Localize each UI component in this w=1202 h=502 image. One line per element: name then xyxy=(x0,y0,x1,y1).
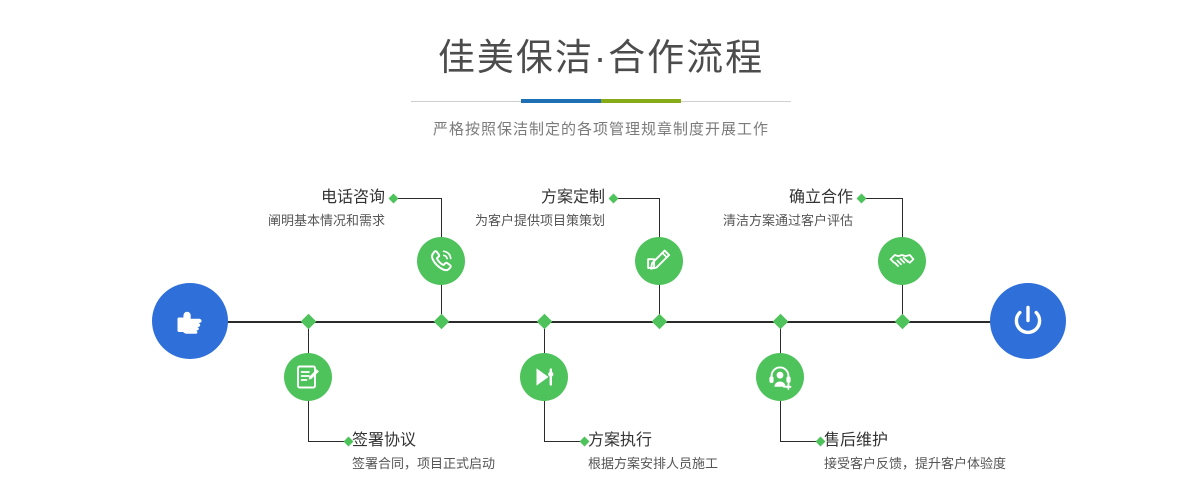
step-label-6: 确立合作 清洁方案通过客户评估 xyxy=(608,188,853,230)
phone-call-icon xyxy=(426,246,456,276)
step-desc-2: 签署合同，项目正式启动 xyxy=(352,455,495,473)
pencil-ruler-icon xyxy=(645,247,673,275)
step-icon-3[interactable] xyxy=(635,237,683,285)
step-title-2: 签署协议 xyxy=(352,431,495,451)
axis-marker-step-4 xyxy=(537,314,553,330)
step-desc-4: 根据方案安排人员施工 xyxy=(588,455,718,473)
step-title-5: 售后维护 xyxy=(824,431,1006,451)
connector-horizontal-step-2 xyxy=(308,441,348,442)
step-title-3: 方案定制 xyxy=(360,188,605,208)
step-icon-6[interactable] xyxy=(878,237,926,285)
step-label-3: 方案定制 为客户提供项目策策划 xyxy=(360,188,605,230)
process-timeline: 电话咨询 阐明基本情况和需求 签署协议 签署合同，项目正式启动 xyxy=(0,0,1202,502)
connector-drop-step-4 xyxy=(544,400,545,442)
connector-drop-step-2 xyxy=(308,400,309,442)
connector-tip-step-6 xyxy=(857,194,867,204)
document-pen-icon xyxy=(294,363,322,391)
handshake-icon xyxy=(888,247,916,275)
timeline-start-node[interactable] xyxy=(152,283,228,359)
headset-support-icon xyxy=(766,363,794,391)
step-title-4: 方案执行 xyxy=(588,431,718,451)
step-title-1: 电话咨询 xyxy=(140,188,385,208)
connector-horizontal-step-4 xyxy=(544,441,584,442)
step-desc-5: 接受客户反馈，提升客户体验度 xyxy=(824,455,1006,473)
connector-drop-step-5 xyxy=(780,400,781,442)
step-icon-5[interactable] xyxy=(756,353,804,401)
pointing-hand-icon xyxy=(170,301,210,341)
power-icon xyxy=(1006,299,1050,343)
flow-diagram-page: 佳美保洁·合作流程 严格按照保洁制定的各项管理规章制度开展工作 xyxy=(0,0,1202,502)
connector-horizontal-step-6 xyxy=(862,198,903,199)
axis-marker-step-6 xyxy=(895,314,911,330)
play-execute-icon xyxy=(530,363,558,391)
axis-marker-step-2 xyxy=(301,314,317,330)
axis-marker-step-5 xyxy=(773,314,789,330)
step-icon-1[interactable] xyxy=(417,237,465,285)
connector-riser-step-6 xyxy=(902,198,903,234)
timeline-end-node[interactable] xyxy=(990,283,1066,359)
step-icon-4[interactable] xyxy=(520,353,568,401)
axis-marker-step-3 xyxy=(652,314,668,330)
step-label-1: 电话咨询 阐明基本情况和需求 xyxy=(140,188,385,230)
step-label-4: 方案执行 根据方案安排人员施工 xyxy=(588,431,718,473)
axis-marker-step-1 xyxy=(434,314,450,330)
step-label-5: 售后维护 接受客户反馈，提升客户体验度 xyxy=(824,431,1006,473)
step-desc-6: 清洁方案通过客户评估 xyxy=(608,212,853,230)
step-desc-3: 为客户提供项目策策划 xyxy=(360,212,605,230)
step-icon-2[interactable] xyxy=(284,353,332,401)
step-title-6: 确立合作 xyxy=(608,188,853,208)
step-desc-1: 阐明基本情况和需求 xyxy=(140,212,385,230)
connector-horizontal-step-5 xyxy=(780,441,820,442)
step-label-2: 签署协议 签署合同，项目正式启动 xyxy=(352,431,495,473)
